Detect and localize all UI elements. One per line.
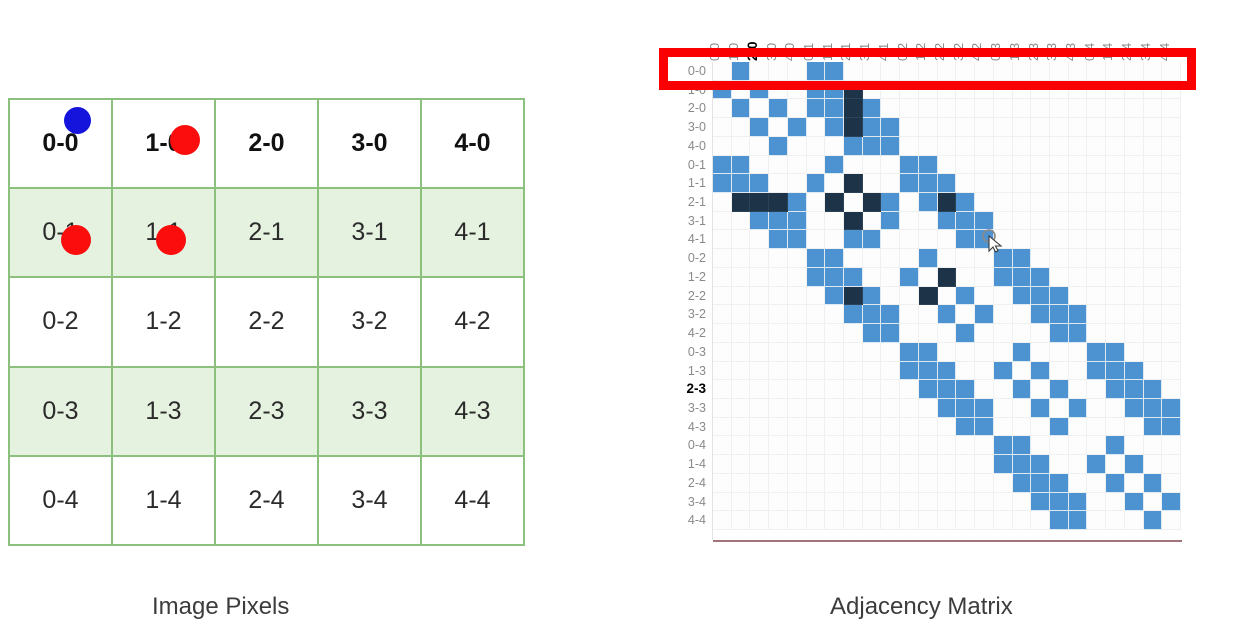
matrix-cell-4-1-2-0[interactable] (750, 230, 769, 249)
matrix-cell-3-0-4-4[interactable] (1162, 118, 1181, 137)
matrix-cell-1-3-3-2[interactable] (956, 362, 975, 381)
matrix-cell-3-3-4-4[interactable] (1162, 399, 1181, 418)
matrix-cell-2-1-0-0[interactable] (713, 193, 732, 212)
matrix-cell-3-1-0-4[interactable] (1087, 212, 1106, 231)
matrix-cell-0-2-4-4[interactable] (1162, 249, 1181, 268)
matrix-cell-4-3-3-3[interactable] (1050, 418, 1069, 437)
matrix-cell-2-1-4-3[interactable] (1069, 193, 1088, 212)
matrix-cell-0-1-1-3[interactable] (1013, 156, 1032, 175)
matrix-cell-3-4-0-4[interactable] (1087, 493, 1106, 512)
pixel-cell-1-0[interactable]: 1-0 (112, 99, 215, 188)
matrix-cell-0-0-1-3[interactable] (1013, 62, 1032, 81)
matrix-cell-1-3-0-1[interactable] (807, 362, 826, 381)
matrix-cell-4-1-4-1[interactable] (881, 230, 900, 249)
matrix-cell-1-3-3-1[interactable] (863, 362, 882, 381)
matrix-cell-1-3-4-4[interactable] (1162, 362, 1181, 381)
matrix-cell-2-0-0-2[interactable] (900, 99, 919, 118)
matrix-cell-2-1-0-3[interactable] (994, 193, 1013, 212)
matrix-cell-4-1-0-0[interactable] (713, 230, 732, 249)
pixel-cell-0-3[interactable]: 0-3 (9, 367, 112, 456)
matrix-cell-4-4-2-2[interactable] (938, 511, 957, 530)
matrix-cell-4-1-2-3[interactable] (1031, 230, 1050, 249)
matrix-cell-4-4-3-2[interactable] (956, 511, 975, 530)
matrix-cell-1-3-4-3[interactable] (1069, 362, 1088, 381)
matrix-cell-4-0-3-4[interactable] (1144, 137, 1163, 156)
matrix-cell-4-3-0-4[interactable] (1087, 418, 1106, 437)
matrix-cell-4-0-1-0[interactable] (732, 137, 751, 156)
matrix-cell-1-0-4-1[interactable] (881, 81, 900, 100)
matrix-cell-0-3-4-3[interactable] (1069, 343, 1088, 362)
matrix-cell-1-2-3-3[interactable] (1050, 268, 1069, 287)
matrix-cell-1-4-0-1[interactable] (807, 455, 826, 474)
matrix-cell-2-4-3-0[interactable] (769, 474, 788, 493)
matrix-cell-3-0-0-1[interactable] (807, 118, 826, 137)
matrix-cell-0-4-3-0[interactable] (769, 436, 788, 455)
matrix-cell-1-0-2-2[interactable] (938, 81, 957, 100)
matrix-cell-1-2-2-0[interactable] (750, 268, 769, 287)
matrix-cell-1-1-1-2[interactable] (919, 174, 938, 193)
matrix-cell-3-3-4-3[interactable] (1069, 399, 1088, 418)
matrix-cell-0-4-1-0[interactable] (732, 436, 751, 455)
matrix-cell-4-4-2-1[interactable] (844, 511, 863, 530)
matrix-cell-2-0-2-3[interactable] (1031, 99, 1050, 118)
matrix-cell-1-3-2-1[interactable] (844, 362, 863, 381)
matrix-cell-1-2-1-4[interactable] (1106, 268, 1125, 287)
matrix-cell-1-0-3-1[interactable] (863, 81, 882, 100)
matrix-cell-3-0-1-4[interactable] (1106, 118, 1125, 137)
matrix-cell-2-3-1-2[interactable] (919, 380, 938, 399)
matrix-cell-1-1-2-2[interactable] (938, 174, 957, 193)
matrix-cell-3-4-3-1[interactable] (863, 493, 882, 512)
matrix-cell-2-4-0-1[interactable] (807, 474, 826, 493)
matrix-cell-1-2-3-0[interactable] (769, 268, 788, 287)
matrix-cell-2-4-3-2[interactable] (956, 474, 975, 493)
matrix-cell-4-0-1-3[interactable] (1013, 137, 1032, 156)
pixel-cell-2-4[interactable]: 2-4 (215, 456, 318, 545)
matrix-cell-1-0-1-4[interactable] (1106, 81, 1125, 100)
matrix-cell-0-2-2-3[interactable] (1031, 249, 1050, 268)
matrix-cell-1-4-0-0[interactable] (713, 455, 732, 474)
matrix-cell-2-3-2-3[interactable] (1031, 380, 1050, 399)
matrix-cell-2-3-3-4[interactable] (1144, 380, 1163, 399)
matrix-cell-0-0-0-4[interactable] (1087, 62, 1106, 81)
matrix-cell-4-2-2-0[interactable] (750, 324, 769, 343)
matrix-cell-2-2-1-2[interactable] (919, 287, 938, 306)
matrix-cell-4-2-0-4[interactable] (1087, 324, 1106, 343)
matrix-cell-3-0-0-4[interactable] (1087, 118, 1106, 137)
pixel-cell-4-2[interactable]: 4-2 (421, 277, 524, 366)
matrix-cell-0-3-3-0[interactable] (769, 343, 788, 362)
matrix-cell-1-0-0-2[interactable] (900, 81, 919, 100)
matrix-cell-4-3-0-1[interactable] (807, 418, 826, 437)
matrix-cell-0-1-0-2[interactable] (900, 156, 919, 175)
pixel-cell-0-2[interactable]: 0-2 (9, 277, 112, 366)
matrix-cell-1-2-2-2[interactable] (938, 268, 957, 287)
matrix-cell-3-4-2-3[interactable] (1031, 493, 1050, 512)
matrix-cell-3-1-0-1[interactable] (807, 212, 826, 231)
pixel-cell-4-1[interactable]: 4-1 (421, 188, 524, 277)
matrix-cell-0-4-1-4[interactable] (1106, 436, 1125, 455)
matrix-cell-1-4-2-2[interactable] (938, 455, 957, 474)
matrix-cell-0-0-1-2[interactable] (919, 62, 938, 81)
matrix-cell-0-0-3-4[interactable] (1144, 62, 1163, 81)
matrix-cell-0-1-4-4[interactable] (1162, 156, 1181, 175)
matrix-cell-2-2-4-4[interactable] (1162, 287, 1181, 306)
matrix-cell-3-2-4-2[interactable] (975, 305, 994, 324)
matrix-cell-2-4-4-0[interactable] (788, 474, 807, 493)
matrix-cell-0-2-4-3[interactable] (1069, 249, 1088, 268)
matrix-cell-3-3-2-0[interactable] (750, 399, 769, 418)
matrix-cell-2-0-2-2[interactable] (938, 99, 957, 118)
matrix-cell-1-2-1-3[interactable] (1013, 268, 1032, 287)
matrix-cell-2-4-1-2[interactable] (919, 474, 938, 493)
matrix-cell-1-0-3-2[interactable] (956, 81, 975, 100)
matrix-cell-1-3-0-2[interactable] (900, 362, 919, 381)
matrix-cell-3-2-3-3[interactable] (1050, 305, 1069, 324)
matrix-cell-1-0-2-0[interactable] (750, 81, 769, 100)
matrix-cell-4-0-0-1[interactable] (807, 137, 826, 156)
pixel-cell-3-3[interactable]: 3-3 (318, 367, 421, 456)
matrix-cell-2-2-0-4[interactable] (1087, 287, 1106, 306)
matrix-cell-2-3-1-0[interactable] (732, 380, 751, 399)
matrix-cell-3-3-0-1[interactable] (807, 399, 826, 418)
matrix-cell-1-4-1-4[interactable] (1106, 455, 1125, 474)
matrix-cell-3-0-2-4[interactable] (1125, 118, 1144, 137)
matrix-cell-3-0-3-3[interactable] (1050, 118, 1069, 137)
matrix-cell-2-4-2-4[interactable] (1125, 474, 1144, 493)
matrix-cell-1-4-4-4[interactable] (1162, 455, 1181, 474)
matrix-cell-0-3-0-1[interactable] (807, 343, 826, 362)
matrix-cell-0-0-2-4[interactable] (1125, 62, 1144, 81)
matrix-cell-0-0-4-4[interactable] (1162, 62, 1181, 81)
matrix-cell-0-0-2-3[interactable] (1031, 62, 1050, 81)
matrix-cell-2-0-1-4[interactable] (1106, 99, 1125, 118)
matrix-cell-0-1-2-3[interactable] (1031, 156, 1050, 175)
pixel-cell-0-4[interactable]: 0-4 (9, 456, 112, 545)
matrix-cell-4-0-4-1[interactable] (881, 137, 900, 156)
matrix-cell-0-3-2-4[interactable] (1125, 343, 1144, 362)
matrix-cell-1-1-3-3[interactable] (1050, 174, 1069, 193)
matrix-cell-0-1-1-0[interactable] (732, 156, 751, 175)
matrix-cell-3-2-0-3[interactable] (994, 305, 1013, 324)
matrix-cell-2-4-3-3[interactable] (1050, 474, 1069, 493)
matrix-cell-3-4-0-3[interactable] (994, 493, 1013, 512)
matrix-cell-4-4-4-3[interactable] (1069, 511, 1088, 530)
pixel-cell-1-1[interactable]: 1-1 (112, 188, 215, 277)
matrix-cell-2-3-2-2[interactable] (938, 380, 957, 399)
pixel-cell-4-4[interactable]: 4-4 (421, 456, 524, 545)
matrix-cell-4-2-3-0[interactable] (769, 324, 788, 343)
matrix-cell-2-0-2-4[interactable] (1125, 99, 1144, 118)
matrix-cell-1-1-1-4[interactable] (1106, 174, 1125, 193)
matrix-cell-2-0-4-4[interactable] (1162, 99, 1181, 118)
matrix-cell-4-0-2-0[interactable] (750, 137, 769, 156)
matrix-cell-0-3-1-3[interactable] (1013, 343, 1032, 362)
matrix-cell-2-1-4-2[interactable] (975, 193, 994, 212)
matrix-cell-1-3-3-0[interactable] (769, 362, 788, 381)
matrix-cell-2-3-2-4[interactable] (1125, 380, 1144, 399)
matrix-cell-4-3-4-4[interactable] (1162, 418, 1181, 437)
matrix-cell-0-4-2-3[interactable] (1031, 436, 1050, 455)
matrix-cell-2-1-4-4[interactable] (1162, 193, 1181, 212)
matrix-cell-2-4-2-3[interactable] (1031, 474, 1050, 493)
matrix-cell-3-3-2-3[interactable] (1031, 399, 1050, 418)
matrix-cell-4-0-3-3[interactable] (1050, 137, 1069, 156)
matrix-cell-4-3-0-2[interactable] (900, 418, 919, 437)
matrix-cell-2-1-0-2[interactable] (900, 193, 919, 212)
matrix-cell-3-2-2-2[interactable] (938, 305, 957, 324)
matrix-cell-4-0-1-4[interactable] (1106, 137, 1125, 156)
matrix-cell-1-2-0-2[interactable] (900, 268, 919, 287)
matrix-cell-4-2-0-2[interactable] (900, 324, 919, 343)
matrix-cell-2-3-4-1[interactable] (881, 380, 900, 399)
matrix-cell-2-4-3-1[interactable] (863, 474, 882, 493)
matrix-cell-1-3-1-0[interactable] (732, 362, 751, 381)
matrix-cell-0-0-4-1[interactable] (881, 62, 900, 81)
matrix-cell-4-2-1-4[interactable] (1106, 324, 1125, 343)
matrix-cell-0-4-2-1[interactable] (844, 436, 863, 455)
matrix-cell-1-0-1-1[interactable] (825, 81, 844, 100)
matrix-cell-2-2-4-0[interactable] (788, 287, 807, 306)
matrix-cell-4-3-3-1[interactable] (863, 418, 882, 437)
matrix-cell-3-1-3-0[interactable] (769, 212, 788, 231)
matrix-cell-1-1-0-1[interactable] (807, 174, 826, 193)
pixel-cell-3-0[interactable]: 3-0 (318, 99, 421, 188)
matrix-cell-1-1-0-0[interactable] (713, 174, 732, 193)
matrix-cell-4-0-0-2[interactable] (900, 137, 919, 156)
matrix-cell-0-2-0-1[interactable] (807, 249, 826, 268)
matrix-cell-3-0-2-2[interactable] (938, 118, 957, 137)
matrix-cell-0-3-0-3[interactable] (994, 343, 1013, 362)
matrix-cell-3-0-3-4[interactable] (1144, 118, 1163, 137)
matrix-cell-0-3-3-3[interactable] (1050, 343, 1069, 362)
matrix-cell-4-1-3-1[interactable] (863, 230, 882, 249)
matrix-cell-0-2-4-1[interactable] (881, 249, 900, 268)
matrix-cell-1-0-4-4[interactable] (1162, 81, 1181, 100)
matrix-cell-2-1-3-2[interactable] (956, 193, 975, 212)
matrix-cell-0-4-2-0[interactable] (750, 436, 769, 455)
matrix-cell-0-2-3-0[interactable] (769, 249, 788, 268)
matrix-cell-3-3-3-4[interactable] (1144, 399, 1163, 418)
matrix-cell-0-3-2-1[interactable] (844, 343, 863, 362)
matrix-cell-1-1-1-0[interactable] (732, 174, 751, 193)
matrix-cell-3-4-4-4[interactable] (1162, 493, 1181, 512)
matrix-cell-2-2-0-1[interactable] (807, 287, 826, 306)
matrix-cell-4-0-0-0[interactable] (713, 137, 732, 156)
matrix-cell-0-4-4-1[interactable] (881, 436, 900, 455)
matrix-cell-0-4-3-3[interactable] (1050, 436, 1069, 455)
matrix-cell-2-2-2-4[interactable] (1125, 287, 1144, 306)
matrix-cell-2-1-1-2[interactable] (919, 193, 938, 212)
matrix-cell-3-2-1-3[interactable] (1013, 305, 1032, 324)
matrix-cell-3-1-0-3[interactable] (994, 212, 1013, 231)
matrix-cell-2-1-1-4[interactable] (1106, 193, 1125, 212)
matrix-cell-1-4-3-4[interactable] (1144, 455, 1163, 474)
matrix-cell-4-2-2-1[interactable] (844, 324, 863, 343)
matrix-cell-3-4-3-3[interactable] (1050, 493, 1069, 512)
matrix-cell-3-1-2-1[interactable] (844, 212, 863, 231)
matrix-cell-3-3-2-4[interactable] (1125, 399, 1144, 418)
matrix-cell-4-1-3-0[interactable] (769, 230, 788, 249)
matrix-cell-3-4-3-2[interactable] (956, 493, 975, 512)
matrix-cell-1-0-1-2[interactable] (919, 81, 938, 100)
matrix-cell-2-4-3-4[interactable] (1144, 474, 1163, 493)
matrix-cell-1-1-1-1[interactable] (825, 174, 844, 193)
matrix-cell-1-1-4-1[interactable] (881, 174, 900, 193)
matrix-cell-0-3-2-2[interactable] (938, 343, 957, 362)
matrix-cell-0-2-1-1[interactable] (825, 249, 844, 268)
matrix-cell-0-3-0-2[interactable] (900, 343, 919, 362)
matrix-cell-3-0-4-1[interactable] (881, 118, 900, 137)
matrix-cell-2-0-1-3[interactable] (1013, 99, 1032, 118)
matrix-cell-2-1-2-3[interactable] (1031, 193, 1050, 212)
matrix-cell-4-0-4-4[interactable] (1162, 137, 1181, 156)
matrix-cell-2-4-2-1[interactable] (844, 474, 863, 493)
matrix-cell-3-0-0-2[interactable] (900, 118, 919, 137)
matrix-cell-0-0-4-0[interactable] (788, 62, 807, 81)
matrix-cell-2-0-0-4[interactable] (1087, 99, 1106, 118)
matrix-cell-3-0-3-1[interactable] (863, 118, 882, 137)
matrix-cell-1-1-3-4[interactable] (1144, 174, 1163, 193)
matrix-cell-2-0-4-2[interactable] (975, 99, 994, 118)
matrix-cell-1-1-3-2[interactable] (956, 174, 975, 193)
matrix-cell-3-3-0-3[interactable] (994, 399, 1013, 418)
matrix-cell-1-2-0-3[interactable] (994, 268, 1013, 287)
matrix-cell-0-4-0-3[interactable] (994, 436, 1013, 455)
matrix-cell-1-3-4-1[interactable] (881, 362, 900, 381)
matrix-cell-2-1-3-1[interactable] (863, 193, 882, 212)
matrix-cell-2-4-0-0[interactable] (713, 474, 732, 493)
matrix-cell-1-3-1-2[interactable] (919, 362, 938, 381)
matrix-cell-4-0-2-2[interactable] (938, 137, 957, 156)
matrix-cell-1-0-3-4[interactable] (1144, 81, 1163, 100)
matrix-cell-0-0-0-0[interactable] (713, 62, 732, 81)
matrix-cell-0-1-0-4[interactable] (1087, 156, 1106, 175)
matrix-cell-3-1-3-2[interactable] (956, 212, 975, 231)
matrix-cell-1-1-1-3[interactable] (1013, 174, 1032, 193)
pixel-cell-2-1[interactable]: 2-1 (215, 188, 318, 277)
matrix-cell-0-1-3-4[interactable] (1144, 156, 1163, 175)
matrix-cell-0-0-2-2[interactable] (938, 62, 957, 81)
matrix-cell-1-0-0-4[interactable] (1087, 81, 1106, 100)
matrix-cell-4-2-0-0[interactable] (713, 324, 732, 343)
matrix-cell-0-2-3-1[interactable] (863, 249, 882, 268)
matrix-cell-1-2-1-2[interactable] (919, 268, 938, 287)
matrix-cell-0-0-1-0[interactable] (732, 62, 751, 81)
matrix-cell-1-3-3-4[interactable] (1144, 362, 1163, 381)
matrix-cell-3-4-1-0[interactable] (732, 493, 751, 512)
matrix-cell-4-4-4-2[interactable] (975, 511, 994, 530)
matrix-cell-2-4-1-1[interactable] (825, 474, 844, 493)
matrix-cell-2-1-0-1[interactable] (807, 193, 826, 212)
matrix-cell-1-1-2-0[interactable] (750, 174, 769, 193)
matrix-cell-4-3-4-3[interactable] (1069, 418, 1088, 437)
matrix-cell-2-3-1-3[interactable] (1013, 380, 1032, 399)
matrix-cell-0-1-4-2[interactable] (975, 156, 994, 175)
matrix-cell-4-0-3-1[interactable] (863, 137, 882, 156)
matrix-cell-1-4-3-3[interactable] (1050, 455, 1069, 474)
matrix-cell-4-2-4-1[interactable] (881, 324, 900, 343)
matrix-cell-0-0-3-2[interactable] (956, 62, 975, 81)
matrix-cell-4-4-1-1[interactable] (825, 511, 844, 530)
matrix-cell-1-0-4-0[interactable] (788, 81, 807, 100)
matrix-cell-2-1-4-1[interactable] (881, 193, 900, 212)
matrix-cell-3-3-4-0[interactable] (788, 399, 807, 418)
matrix-cell-2-1-1-1[interactable] (825, 193, 844, 212)
matrix-cell-4-3-1-4[interactable] (1106, 418, 1125, 437)
matrix-cell-2-4-0-3[interactable] (994, 474, 1013, 493)
matrix-cell-0-4-3-1[interactable] (863, 436, 882, 455)
matrix-cell-3-4-1-4[interactable] (1106, 493, 1125, 512)
matrix-cell-4-4-3-0[interactable] (769, 511, 788, 530)
matrix-cell-0-4-3-2[interactable] (956, 436, 975, 455)
matrix-cell-3-2-3-0[interactable] (769, 305, 788, 324)
matrix-cell-3-1-2-4[interactable] (1125, 212, 1144, 231)
matrix-cell-4-4-0-1[interactable] (807, 511, 826, 530)
matrix-cell-0-0-0-2[interactable] (900, 62, 919, 81)
matrix-cell-4-4-4-1[interactable] (881, 511, 900, 530)
matrix-cell-3-3-1-0[interactable] (732, 399, 751, 418)
matrix-cell-4-4-1-2[interactable] (919, 511, 938, 530)
matrix-cell-2-3-4-2[interactable] (975, 380, 994, 399)
matrix-cell-1-4-1-0[interactable] (732, 455, 751, 474)
matrix-cell-3-2-2-3[interactable] (1031, 305, 1050, 324)
matrix-cell-1-3-1-3[interactable] (1013, 362, 1032, 381)
matrix-cell-4-4-0-2[interactable] (900, 511, 919, 530)
matrix-cell-4-1-0-2[interactable] (900, 230, 919, 249)
matrix-cell-1-4-4-3[interactable] (1069, 455, 1088, 474)
matrix-cell-0-1-4-0[interactable] (788, 156, 807, 175)
matrix-cell-4-4-4-0[interactable] (788, 511, 807, 530)
matrix-cell-2-0-0-1[interactable] (807, 99, 826, 118)
matrix-cell-4-2-0-1[interactable] (807, 324, 826, 343)
matrix-cell-0-1-4-3[interactable] (1069, 156, 1088, 175)
matrix-cell-1-3-4-2[interactable] (975, 362, 994, 381)
matrix-cell-4-4-2-4[interactable] (1125, 511, 1144, 530)
matrix-cell-3-1-4-2[interactable] (975, 212, 994, 231)
matrix-cell-0-1-1-2[interactable] (919, 156, 938, 175)
matrix-cell-1-2-3-4[interactable] (1144, 268, 1163, 287)
matrix-cell-3-4-1-2[interactable] (919, 493, 938, 512)
matrix-cell-4-3-1-0[interactable] (732, 418, 751, 437)
matrix-cell-2-2-2-0[interactable] (750, 287, 769, 306)
matrix-cell-0-3-3-1[interactable] (863, 343, 882, 362)
matrix-cell-1-0-0-1[interactable] (807, 81, 826, 100)
matrix-cell-0-0-2-0[interactable] (750, 62, 769, 81)
matrix-cell-3-2-0-1[interactable] (807, 305, 826, 324)
matrix-cell-2-2-3-3[interactable] (1050, 287, 1069, 306)
matrix-cell-4-0-3-0[interactable] (769, 137, 788, 156)
matrix-cell-2-2-3-2[interactable] (956, 287, 975, 306)
matrix-cell-0-2-3-2[interactable] (956, 249, 975, 268)
matrix-cell-3-1-1-4[interactable] (1106, 212, 1125, 231)
matrix-cell-0-0-4-3[interactable] (1069, 62, 1088, 81)
pixel-cell-4-0[interactable]: 4-0 (421, 99, 524, 188)
matrix-cell-2-0-3-0[interactable] (769, 99, 788, 118)
matrix-cell-0-2-4-0[interactable] (788, 249, 807, 268)
matrix-cell-4-3-2-0[interactable] (750, 418, 769, 437)
matrix-cell-0-4-1-3[interactable] (1013, 436, 1032, 455)
matrix-cell-1-1-2-1[interactable] (844, 174, 863, 193)
matrix-cell-3-4-1-3[interactable] (1013, 493, 1032, 512)
matrix-cell-3-0-2-3[interactable] (1031, 118, 1050, 137)
matrix-cell-2-0-1-2[interactable] (919, 99, 938, 118)
matrix-cell-1-0-3-3[interactable] (1050, 81, 1069, 100)
matrix-cell-2-2-3-0[interactable] (769, 287, 788, 306)
matrix-cell-0-1-1-1[interactable] (825, 156, 844, 175)
matrix-cell-4-2-3-4[interactable] (1144, 324, 1163, 343)
matrix-cell-0-3-1-2[interactable] (919, 343, 938, 362)
